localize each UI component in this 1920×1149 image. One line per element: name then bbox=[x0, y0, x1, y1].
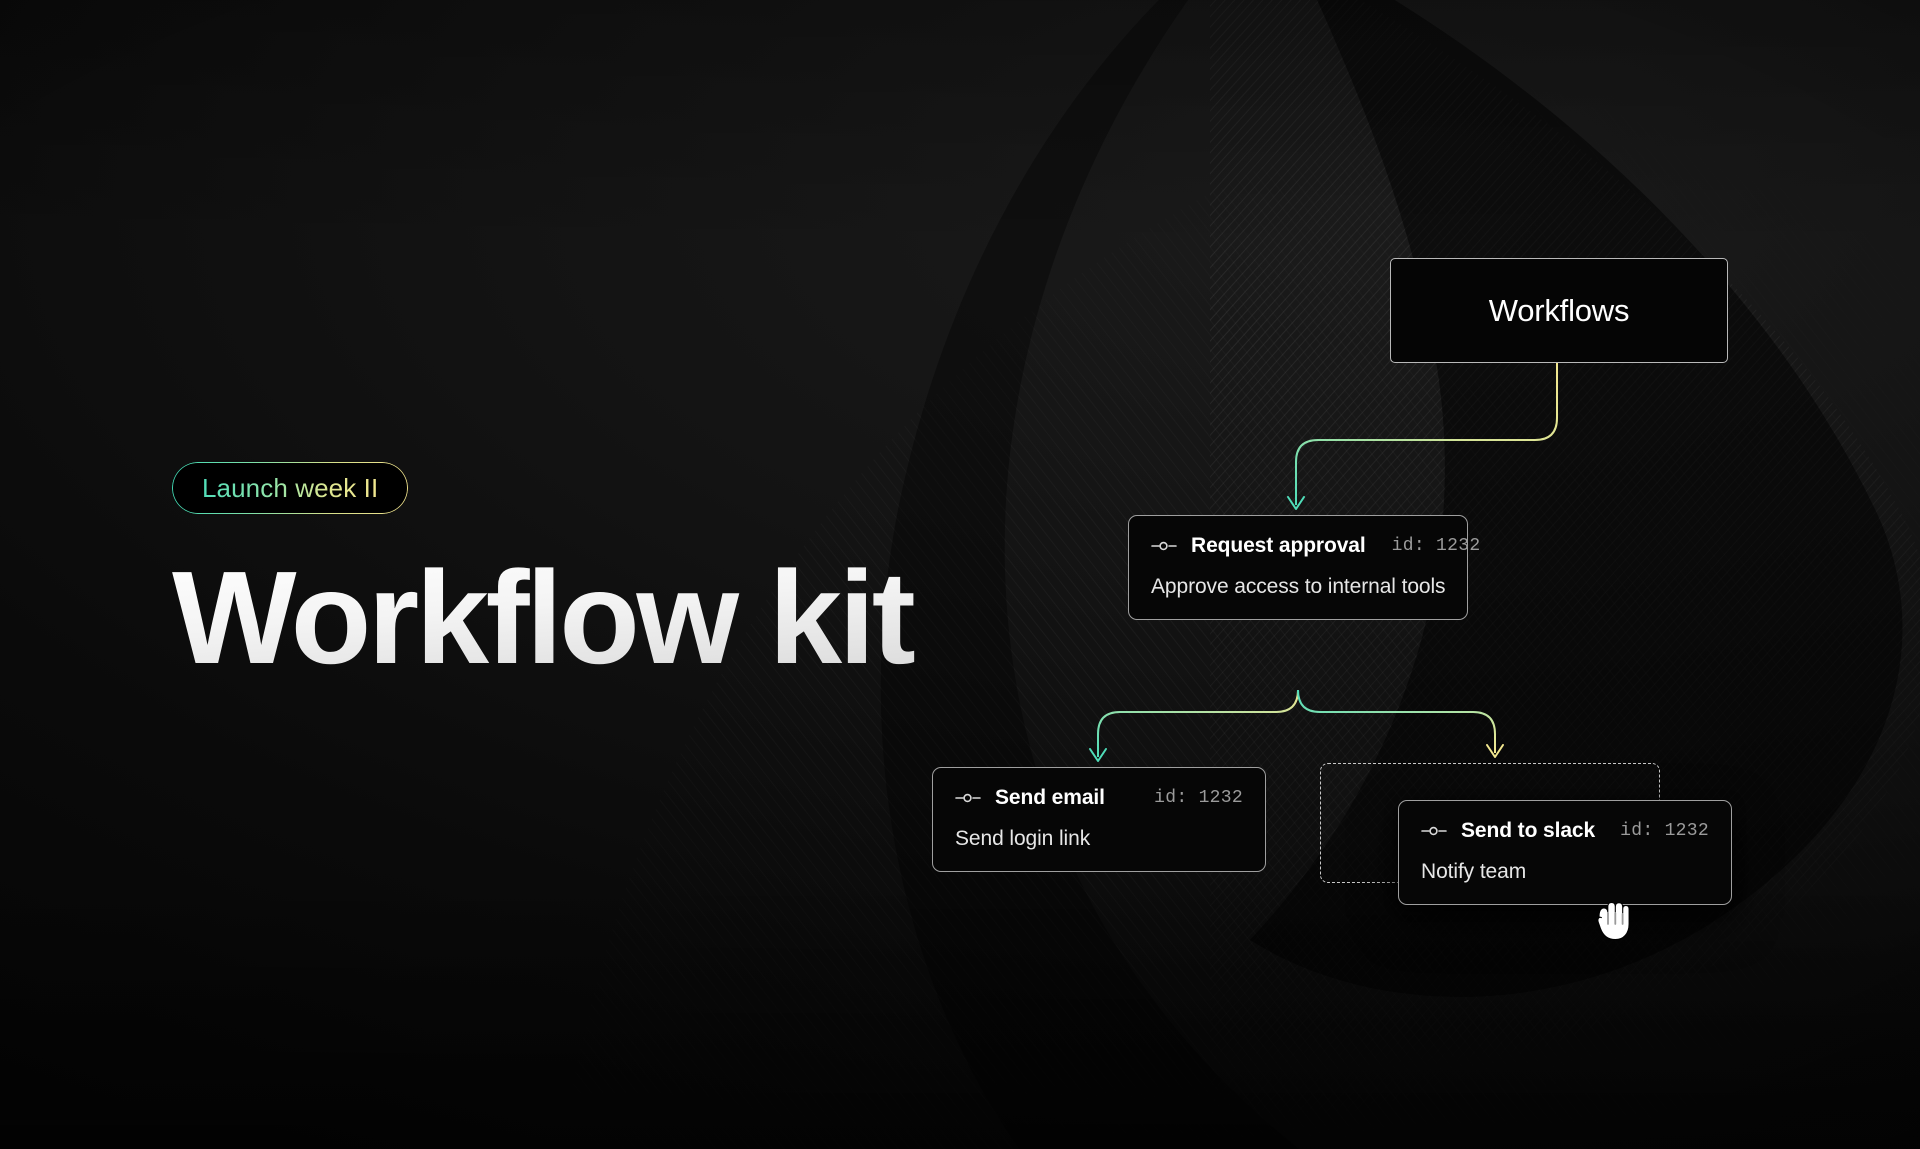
node-connector-icon bbox=[1151, 540, 1177, 552]
workflow-diagram: Workflows Request approval id: 1232 Appr… bbox=[0, 0, 1920, 1149]
card-subtitle: Notify team bbox=[1421, 860, 1709, 884]
card-title: Send to slack bbox=[1461, 819, 1595, 843]
launch-week-badge-label: Launch week II bbox=[202, 473, 378, 504]
workflow-node-root[interactable]: Workflows bbox=[1390, 258, 1728, 363]
card-header: Send email id: 1232 bbox=[955, 786, 1243, 810]
card-id-label: id: 1232 bbox=[1620, 821, 1709, 841]
card-title: Request approval bbox=[1191, 534, 1366, 558]
workflow-node-send-email[interactable]: Send email id: 1232 Send login link bbox=[932, 767, 1266, 872]
card-header: Request approval id: 1232 bbox=[1151, 534, 1445, 558]
workflow-connectors bbox=[0, 0, 1920, 1149]
workflow-node-request-approval[interactable]: Request approval id: 1232 Approve access… bbox=[1128, 515, 1468, 620]
card-id-label: id: 1232 bbox=[1154, 788, 1243, 808]
node-connector-icon bbox=[1421, 825, 1447, 837]
workflow-node-root-label: Workflows bbox=[1489, 293, 1630, 329]
hero-canvas: Launch week II Workflow kit bbox=[0, 0, 1920, 1149]
card-subtitle: Send login link bbox=[955, 827, 1243, 851]
card-header: Send to slack id: 1232 bbox=[1421, 819, 1709, 843]
node-connector-icon bbox=[955, 792, 981, 804]
card-title: Send email bbox=[995, 786, 1105, 810]
workflow-node-send-to-slack[interactable]: Send to slack id: 1232 Notify team bbox=[1398, 800, 1732, 905]
card-subtitle: Approve access to internal tools bbox=[1151, 575, 1445, 599]
card-id-label: id: 1232 bbox=[1392, 536, 1481, 556]
